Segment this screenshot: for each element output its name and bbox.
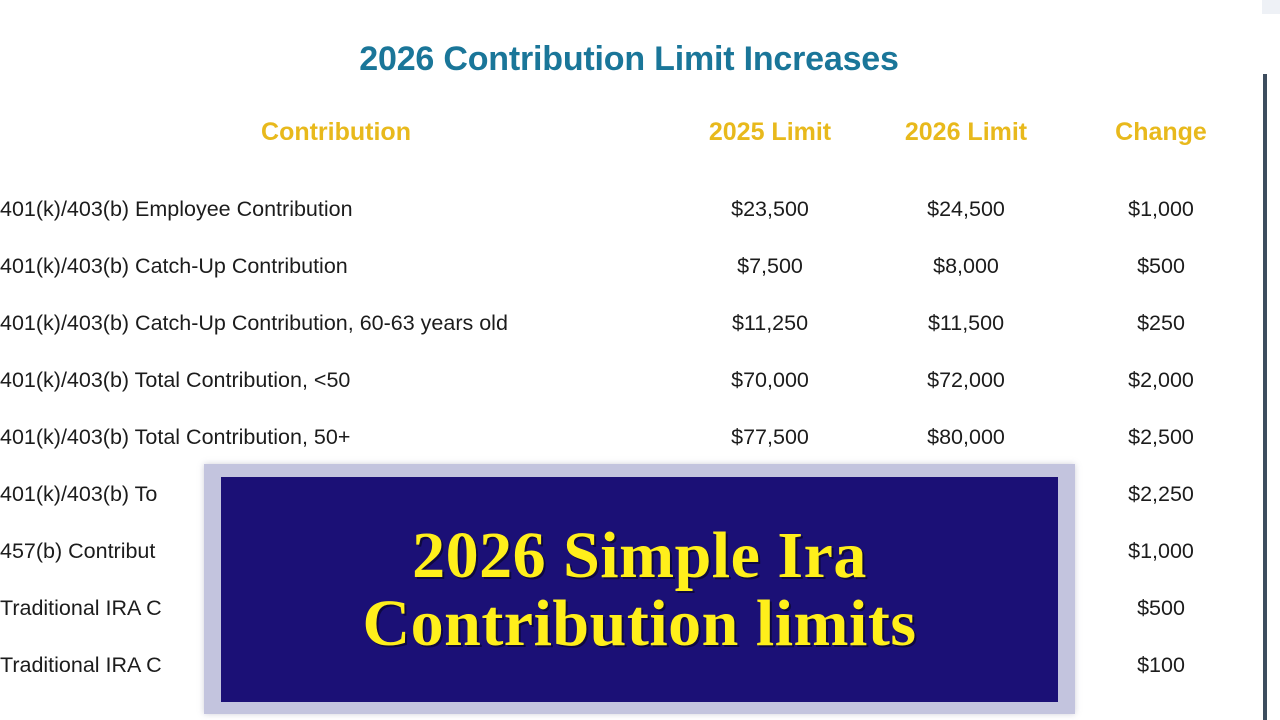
overlay-title-line-2: Contribution limits bbox=[362, 590, 916, 658]
cell-change: $2,500 bbox=[1064, 409, 1258, 466]
cell-change: $500 bbox=[1064, 238, 1258, 295]
cell-2026-limit: $24,500 bbox=[868, 181, 1064, 238]
cell-change: $2,000 bbox=[1064, 352, 1258, 409]
column-header-2025-limit: 2025 Limit bbox=[672, 118, 868, 181]
table-row: 401(k)/403(b) Total Contribution, <50 $7… bbox=[0, 352, 1258, 409]
cell-2025-limit: $11,250 bbox=[672, 295, 868, 352]
table-row: 401(k)/403(b) Employee Contribution $23,… bbox=[0, 181, 1258, 238]
cell-contribution-name: 401(k)/403(b) Employee Contribution bbox=[0, 181, 672, 238]
column-header-2026-limit: 2026 Limit bbox=[868, 118, 1064, 181]
video-thumbnail-overlay[interactable]: 2026 Simple Ira Contribution limits bbox=[204, 464, 1075, 714]
cell-2025-limit: $77,500 bbox=[672, 409, 868, 466]
table-header-row: Contribution 2025 Limit 2026 Limit Chang… bbox=[0, 118, 1258, 181]
cell-change: $100 bbox=[1064, 637, 1258, 694]
cell-contribution-name: 401(k)/403(b) Catch-Up Contribution, 60-… bbox=[0, 295, 672, 352]
cell-change: $500 bbox=[1064, 580, 1258, 637]
cell-2026-limit: $72,000 bbox=[868, 352, 1064, 409]
cell-2025-limit: $7,500 bbox=[672, 238, 868, 295]
overlay-title-line-1: 2026 Simple Ira bbox=[412, 522, 867, 590]
column-header-change: Change bbox=[1064, 118, 1258, 181]
right-vertical-rule bbox=[1263, 74, 1267, 720]
corner-swatch-decoration bbox=[1262, 0, 1280, 14]
cell-change: $1,000 bbox=[1064, 523, 1258, 580]
cell-2026-limit: $8,000 bbox=[868, 238, 1064, 295]
overlay-inner-panel: 2026 Simple Ira Contribution limits bbox=[221, 477, 1058, 702]
cell-2026-limit: $11,500 bbox=[868, 295, 1064, 352]
column-header-contribution: Contribution bbox=[0, 118, 672, 181]
cell-contribution-name: 401(k)/403(b) Catch-Up Contribution bbox=[0, 238, 672, 295]
cell-contribution-name: 401(k)/403(b) Total Contribution, <50 bbox=[0, 352, 672, 409]
cell-change: $2,250 bbox=[1064, 466, 1258, 523]
table-row: 401(k)/403(b) Catch-Up Contribution, 60-… bbox=[0, 295, 1258, 352]
page-title: 2026 Contribution Limit Increases bbox=[0, 40, 1258, 79]
slide-canvas: 2026 Contribution Limit Increases Contri… bbox=[0, 0, 1280, 720]
cell-change: $250 bbox=[1064, 295, 1258, 352]
cell-2025-limit: $70,000 bbox=[672, 352, 868, 409]
cell-2025-limit: $23,500 bbox=[672, 181, 868, 238]
table-row: 401(k)/403(b) Total Contribution, 50+ $7… bbox=[0, 409, 1258, 466]
cell-contribution-name: 401(k)/403(b) Total Contribution, 50+ bbox=[0, 409, 672, 466]
cell-2026-limit: $80,000 bbox=[868, 409, 1064, 466]
cell-change: $1,000 bbox=[1064, 181, 1258, 238]
table-row: 401(k)/403(b) Catch-Up Contribution $7,5… bbox=[0, 238, 1258, 295]
table-header: Contribution 2025 Limit 2026 Limit Chang… bbox=[0, 118, 1258, 181]
